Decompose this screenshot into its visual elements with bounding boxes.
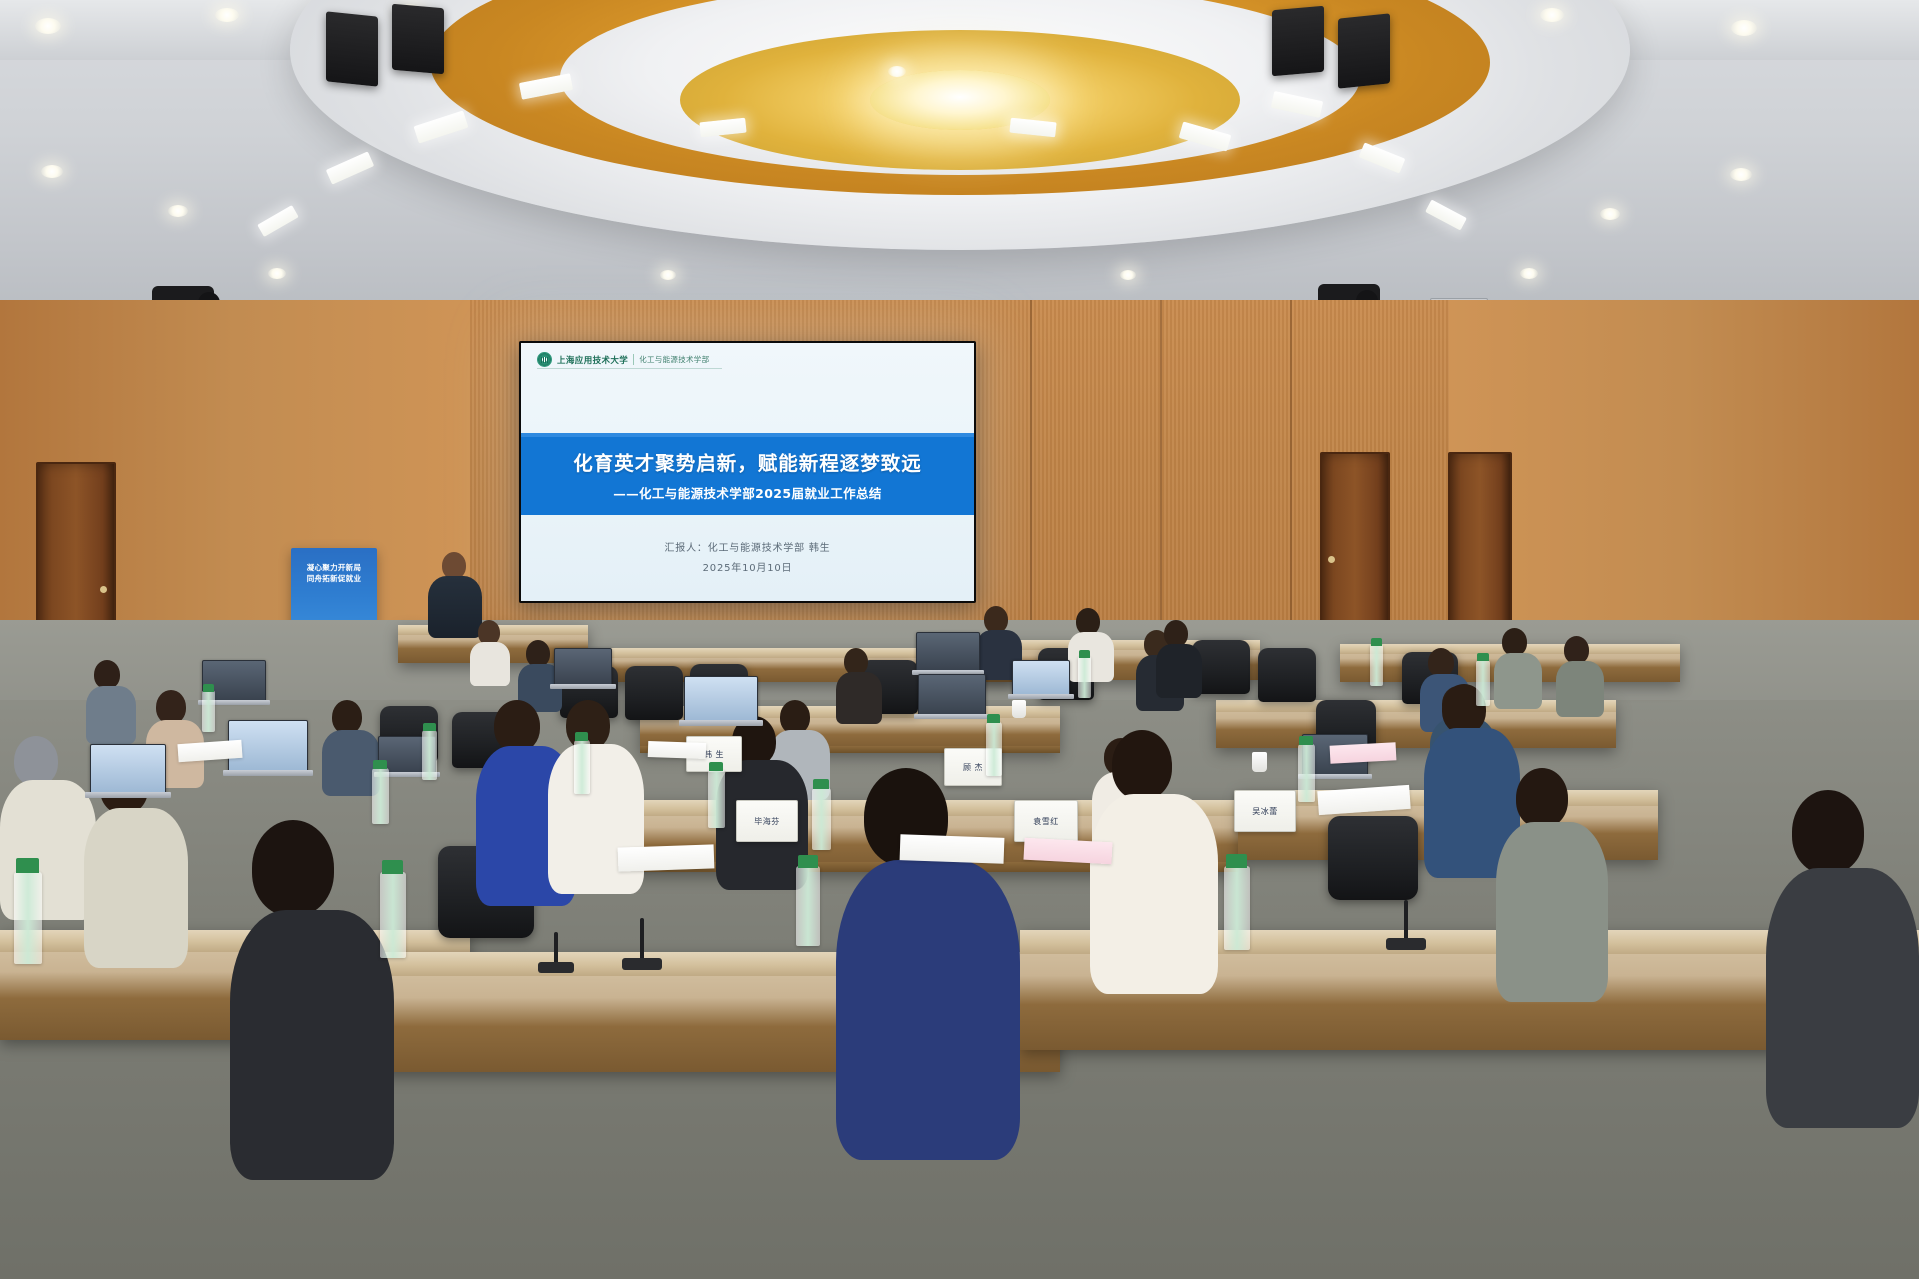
vertical-divider-icon <box>633 354 634 365</box>
bottle-cap-icon <box>1226 854 1247 868</box>
ceiling-speaker-icon[interactable] <box>392 4 444 75</box>
ceiling-speaker-icon[interactable] <box>1338 13 1390 88</box>
presentation-slide: 上海应用技术大学 化工与能源技术学部 化育英才聚势启新，赋能新程逐梦致远 ——化… <box>521 343 974 601</box>
laptop-screen <box>918 674 986 716</box>
water-bottle-icon[interactable] <box>1370 644 1383 686</box>
document-paper-icon[interactable] <box>1023 838 1112 865</box>
attendee-head <box>1164 620 1188 647</box>
placard-name: 韩 生 <box>704 749 724 760</box>
office-chair-icon[interactable] <box>1328 816 1418 900</box>
recessed-downlight-icon <box>1120 270 1136 280</box>
recessed-downlight-icon <box>168 205 188 217</box>
water-bottle-icon[interactable] <box>812 788 831 850</box>
paper-cup-icon[interactable] <box>1012 700 1026 718</box>
slide-logo-row: 上海应用技术大学 化工与能源技术学部 <box>537 352 709 367</box>
attendee-body <box>836 672 882 724</box>
attendee-head <box>1564 636 1589 664</box>
panel-light-icon <box>326 151 375 184</box>
document-paper-icon[interactable] <box>618 844 715 871</box>
placard-name: 顾 杰 <box>963 762 983 773</box>
slide-title: 化育英才聚势启新，赋能新程逐梦致远 <box>521 447 974 476</box>
microphone-base <box>1386 938 1426 950</box>
water-bottle-icon[interactable] <box>1224 866 1250 950</box>
laptop-screen <box>90 744 166 794</box>
attendee-head <box>1076 608 1100 635</box>
laptop-screen <box>684 676 758 722</box>
recessed-downlight-icon <box>660 270 676 280</box>
attendee-body <box>548 744 644 894</box>
conference-room-photo: 上海应用技术大学 化工与能源技术学部 化育英才聚势启新，赋能新程逐梦致远 ——化… <box>0 0 1919 1279</box>
name-placard-icon: 毕海芬 <box>736 800 798 842</box>
document-paper-icon[interactable] <box>648 741 707 759</box>
presenter-head <box>442 552 466 579</box>
water-bottle-icon[interactable] <box>14 872 42 964</box>
department-name: 化工与能源技术学部 <box>639 354 709 365</box>
desk-microphone-icon[interactable] <box>1404 900 1408 942</box>
water-bottle-icon[interactable] <box>372 768 389 824</box>
recessed-downlight-icon <box>888 66 906 77</box>
slide-subtitle: ——化工与能源技术学部2025届就业工作总结 <box>521 483 974 502</box>
banner-line-2: 同舟拓新促就业 <box>291 573 377 584</box>
recessed-downlight-icon <box>1730 168 1752 181</box>
panel-light-icon <box>257 205 299 237</box>
bottle-cap-icon <box>373 760 387 769</box>
bottle-cap-icon <box>575 732 588 741</box>
attendee-head <box>984 606 1008 633</box>
bottle-cap-icon <box>813 779 829 789</box>
water-bottle-icon[interactable] <box>1078 656 1091 698</box>
laptop-screen <box>1012 660 1070 696</box>
recessed-downlight-icon <box>1540 8 1564 22</box>
laptop-base <box>679 720 763 726</box>
attendee-body <box>1068 632 1114 682</box>
banner-line-1: 凝心聚力开新局 <box>291 562 377 573</box>
attendee-body <box>1494 653 1542 709</box>
ceiling <box>0 0 1919 330</box>
panel-light-icon <box>1425 199 1467 230</box>
recessed-downlight-icon <box>215 8 239 22</box>
attendee-head <box>14 736 58 786</box>
microphone-base <box>622 958 662 970</box>
office-chair-icon[interactable] <box>1258 648 1316 702</box>
attendee-head <box>494 700 540 752</box>
laptop-base <box>550 684 616 689</box>
attendee-head <box>332 700 362 734</box>
attendee-body <box>470 642 510 686</box>
attendee-head <box>1516 768 1568 828</box>
attendee-body <box>1090 794 1218 994</box>
laptop-screen <box>554 648 612 686</box>
bottle-cap-icon <box>382 860 403 874</box>
name-placard-icon: 吴冰蕾 <box>1234 790 1296 832</box>
placard-name: 毕海芬 <box>754 816 780 827</box>
logo-underline <box>537 368 722 369</box>
paper-cup-icon[interactable] <box>1252 752 1267 772</box>
bottle-cap-icon <box>798 855 818 868</box>
office-chair-icon[interactable] <box>625 666 683 720</box>
attendee-head <box>526 640 550 667</box>
water-bottle-icon[interactable] <box>574 740 590 794</box>
door-knob-icon[interactable] <box>1328 556 1335 563</box>
laptop-base <box>223 770 313 776</box>
laptop-base <box>85 792 171 798</box>
attendee-body <box>836 860 1020 1160</box>
attendee-head <box>1502 628 1527 656</box>
water-bottle-icon[interactable] <box>1298 744 1315 802</box>
attendee-head <box>94 660 120 689</box>
laptop-screen <box>916 632 980 672</box>
ceiling-speaker-icon[interactable] <box>1272 6 1324 77</box>
microphone-base <box>538 962 574 973</box>
water-bottle-icon[interactable] <box>986 722 1002 776</box>
water-bottle-icon[interactable] <box>1476 660 1490 706</box>
bottle-cap-icon <box>423 723 436 731</box>
water-bottle-icon[interactable] <box>380 872 406 958</box>
recessed-downlight-icon <box>268 268 286 279</box>
recessed-downlight-icon <box>35 18 61 34</box>
door-knob-icon[interactable] <box>100 586 107 593</box>
placard-name: 吴冰蕾 <box>1252 806 1278 817</box>
attendee-body <box>84 808 188 968</box>
attendee-head <box>252 820 334 916</box>
university-name: 上海应用技术大学 <box>557 354 628 366</box>
university-seal-icon <box>537 352 552 367</box>
placard-name: 袁雪红 <box>1033 816 1059 827</box>
attendee-body <box>1556 661 1604 717</box>
desk-microphone-icon[interactable] <box>554 932 558 966</box>
bottle-cap-icon <box>1079 650 1090 658</box>
ceiling-speaker-icon[interactable] <box>326 11 378 86</box>
attendee-head <box>1428 648 1454 677</box>
name-placard-icon: 袁雪红 <box>1014 800 1078 842</box>
bottle-cap-icon <box>1477 653 1489 661</box>
water-bottle-icon[interactable] <box>422 730 437 780</box>
attendee-head <box>156 690 186 724</box>
desk-microphone-icon[interactable] <box>640 918 644 962</box>
attendee-body <box>1496 822 1608 1002</box>
document-paper-icon[interactable] <box>1330 742 1397 763</box>
bottle-cap-icon <box>709 762 723 771</box>
bottle-cap-icon <box>16 858 39 873</box>
attendee-body <box>86 686 136 744</box>
attendee-head <box>1792 790 1864 874</box>
document-paper-icon[interactable] <box>900 834 1005 864</box>
attendee-head <box>780 700 810 734</box>
bottle-cap-icon <box>987 714 1000 723</box>
water-bottle-icon[interactable] <box>202 690 215 732</box>
laptop-base <box>1008 694 1074 699</box>
slide-presenter: 汇报人：化工与能源技术学部 韩生 <box>521 539 974 554</box>
laptop-base <box>914 714 990 719</box>
slide-date: 2025年10月10日 <box>521 559 974 574</box>
attendee-body <box>1156 644 1202 698</box>
bottle-cap-icon <box>203 684 214 692</box>
recessed-downlight-icon <box>1520 268 1538 279</box>
recessed-downlight-icon <box>41 165 63 178</box>
attendee-body <box>230 910 394 1180</box>
bottle-cap-icon <box>1371 638 1382 646</box>
water-bottle-icon[interactable] <box>796 866 820 946</box>
recessed-downlight-icon <box>1600 208 1620 220</box>
attendee-body <box>1766 868 1919 1128</box>
bottle-cap-icon <box>1299 736 1313 745</box>
water-bottle-icon[interactable] <box>708 770 725 828</box>
attendee-head <box>1112 730 1172 800</box>
attendee-head <box>844 648 868 675</box>
presenter-body <box>428 576 482 638</box>
recessed-downlight-icon <box>1731 20 1757 36</box>
